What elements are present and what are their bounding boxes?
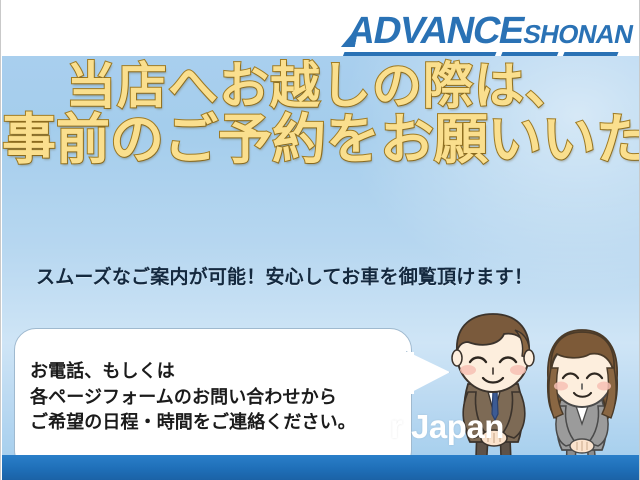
bubble-line-1: お電話、もしくは bbox=[30, 359, 410, 385]
advance-shonan-logo: ADVANCE SHONAN bbox=[348, 6, 633, 50]
speech-bubble-text: お電話、もしくは 各ページフォームのお問い合わせから ご希望の日程・時間をご連絡… bbox=[30, 359, 410, 436]
header: ADVANCE SHONAN bbox=[1, 0, 640, 56]
banner-body: 当店へお越しの際は、 事前のご予約をお願いいたします！ スムーズなご案内が可能！… bbox=[2, 56, 640, 455]
footer-bar bbox=[2, 455, 640, 480]
subtitle-text: スムーズなご案内が可能！安心してお車を御覧頂けます！ bbox=[36, 262, 533, 289]
bubble-line-3: ご希望の日程・時間をご連絡ください。 bbox=[30, 410, 410, 436]
headline-line-1: 当店へお越しの際は、 bbox=[2, 62, 640, 111]
bubble-line-2: 各ページフォームのお問い合わせから bbox=[30, 385, 410, 411]
female-staff-figure bbox=[548, 330, 617, 455]
logo-wordmark: ADVANCE SHONAN bbox=[344, 12, 637, 50]
headline: 当店へお越しの際は、 事前のご予約をお願いいたします！ bbox=[2, 62, 640, 167]
logo-main-text: ADVANCE bbox=[344, 12, 527, 50]
banner-image: ADVANCE SHONAN 当店へお越しの際は、 事前のご予約をお願いいたしま… bbox=[0, 0, 640, 480]
headline-line-2: 事前のご予約をお願いいたします！ bbox=[2, 114, 640, 167]
male-staff-figure bbox=[452, 314, 534, 455]
logo-sub-text: SHONAN bbox=[521, 21, 635, 47]
bowing-staff-illustration bbox=[430, 308, 638, 455]
